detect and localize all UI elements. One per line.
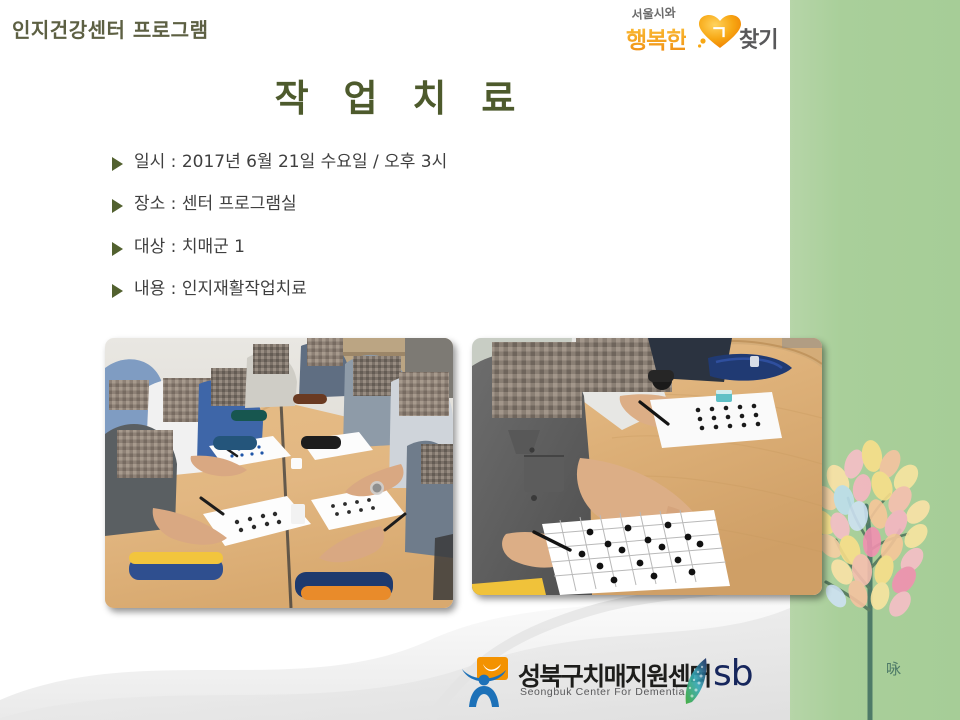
photo-group-session-image [105, 338, 453, 608]
list-item: 내용 : 인지재활작업치료 [112, 279, 732, 300]
seoul-logo-happy-text: 행복한 [626, 21, 686, 55]
photo-closeup-worksheet [472, 338, 822, 595]
list-item: 대상 : 치매군 1 [112, 237, 732, 258]
triangle-right-icon [112, 199, 123, 213]
footer-sb-mark: sb [713, 653, 753, 694]
seoul-logo-find-text: 찾기 [739, 22, 777, 54]
bullet-text: 일시 : 2017년 6월 21일 수요일 / 오후 3시 [134, 152, 447, 173]
seongbuk-center-logo: 성북구치매지원센터 Seongbuk Center For Dementia s… [460, 655, 770, 713]
heart-icon: ㄱ [698, 14, 742, 50]
bullet-list: 일시 : 2017년 6월 21일 수요일 / 오후 3시 장소 : 센터 프로… [112, 152, 732, 321]
photo-group-session [105, 338, 453, 608]
feather-gradient-mark [682, 658, 714, 704]
triangle-right-icon [112, 284, 123, 298]
bullet-text: 내용 : 인지재활작업치료 [134, 279, 307, 300]
slide-header-title: 인지건강센터 프로그램 [12, 14, 208, 43]
page-title: 작 업 치 료 [0, 68, 790, 122]
bullet-text: 대상 : 치매군 1 [134, 237, 245, 258]
footer-english-name: Seongbuk Center For Dementia [520, 686, 685, 698]
triangle-right-icon [112, 242, 123, 256]
bullet-text: 장소 : 센터 프로그램실 [134, 194, 297, 215]
list-item: 장소 : 센터 프로그램실 [112, 194, 732, 215]
tree-signature-mark: 咏 [886, 660, 901, 678]
svg-text:ㄱ: ㄱ [710, 22, 727, 44]
seongbuk-person-icon [460, 657, 510, 707]
photo-closeup-worksheet-image [472, 338, 822, 595]
triangle-right-icon [112, 157, 123, 171]
list-item: 일시 : 2017년 6월 21일 수요일 / 오후 3시 [112, 152, 732, 173]
seoul-happiness-logo: 서울시와 행복한 ㄱ 찾기 [626, 6, 786, 54]
